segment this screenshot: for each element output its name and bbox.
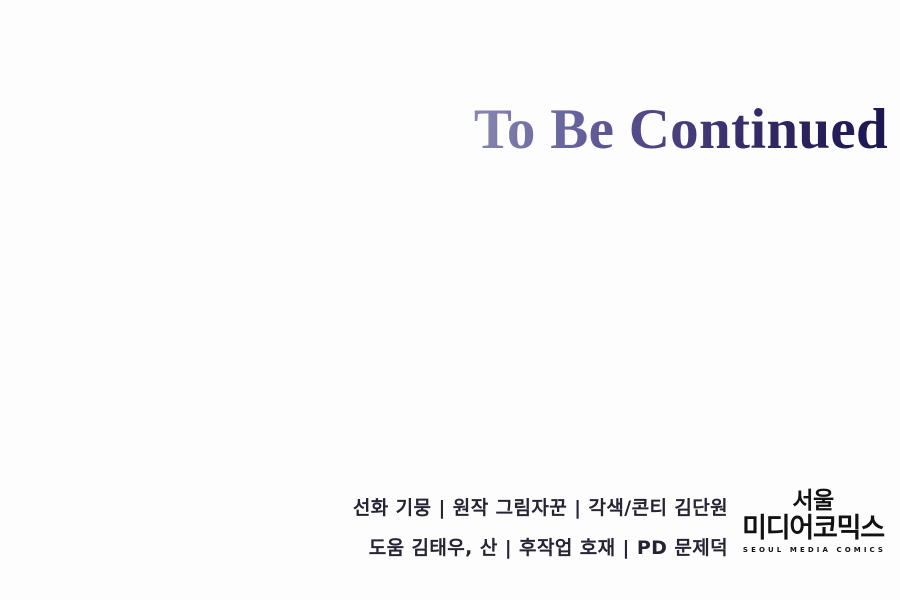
credit-line-staff-primary: 선화 기뭉 | 원작 그림자꾼 | 각색/콘티 김단원: [0, 488, 728, 528]
credits-text-block: 선화 기뭉 | 원작 그림자꾼 | 각색/콘티 김단원 도움 김태우, 산 | …: [0, 488, 740, 568]
publisher-logo-top-line: 서울: [733, 488, 893, 514]
credit-line-staff-secondary: 도움 김태우, 산 | 후작업 호재 | PD 문제덕: [0, 528, 728, 568]
publisher-logo-roman-subtitle: SEOUL MEDIA COMICS: [733, 545, 893, 556]
credits-footer: 선화 기뭉 | 원작 그림자꾼 | 각색/콘티 김단원 도움 김태우, 산 | …: [0, 488, 900, 580]
to-be-continued-title: To Be Continued: [474, 101, 888, 159]
to-be-continued-banner: To Be Continued: [0, 92, 900, 168]
publisher-logo-main-line: 미디어코믹스: [733, 514, 893, 544]
publisher-logo: 서울 미디어코믹스 SEOUL MEDIA COMICS: [733, 488, 893, 556]
comic-end-page: To Be Continued 선화 기뭉 | 원작 그림자꾼 | 각색/콘티 …: [0, 0, 900, 600]
